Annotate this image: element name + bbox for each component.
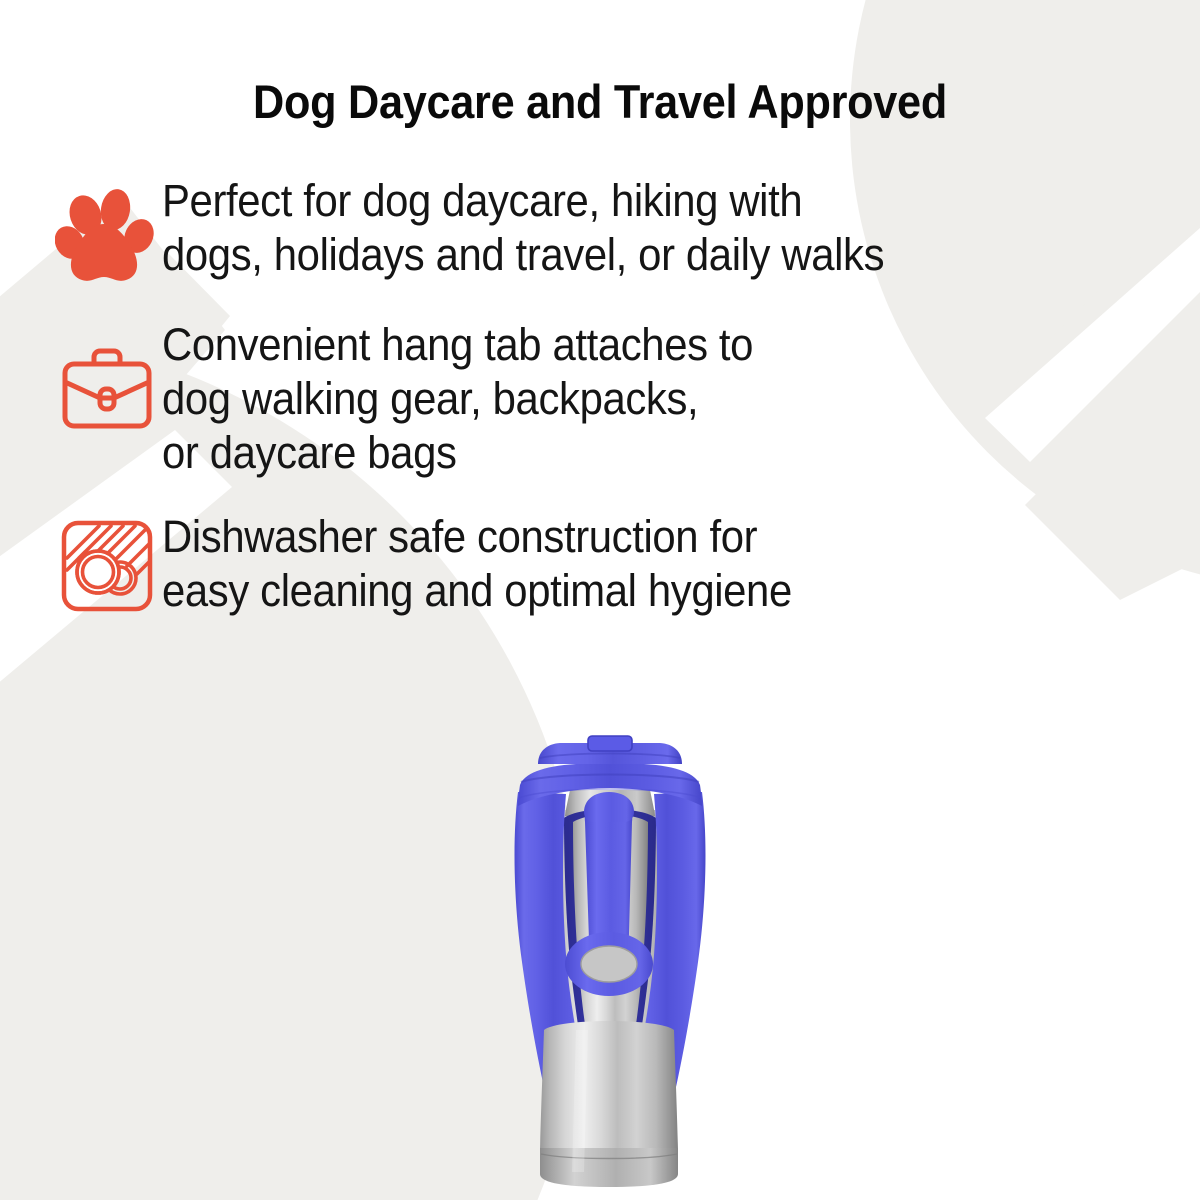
briefcase-icon	[52, 316, 162, 436]
cap-latch-button	[588, 736, 632, 751]
bottle-base-ring	[540, 1148, 678, 1187]
feature-item-dishwasher-text: Dishwasher safe construction for easy cl…	[162, 508, 1092, 618]
feature-item-hang-tab: Convenient hang tab attaches to dog walk…	[52, 316, 1162, 480]
paw-print-icon	[52, 172, 162, 286]
feature-item-hang-tab-text: Convenient hang tab attaches to dog walk…	[162, 316, 1092, 480]
product-image-dog-water-bottle	[480, 730, 740, 1200]
feature-item-dishwasher: Dishwasher safe construction for easy cl…	[52, 508, 1162, 618]
feature-item-daycare-text: Perfect for dog daycare, hiking with dog…	[162, 172, 1092, 282]
dishwasher-safe-icon	[52, 508, 162, 616]
infographic-canvas: Dog Daycare and Travel Approved Perfect …	[0, 0, 1200, 1200]
feature-item-daycare: Perfect for dog daycare, hiking with dog…	[52, 172, 1162, 286]
feature-list: Perfect for dog daycare, hiking with dog…	[52, 172, 1162, 638]
page-title: Dog Daycare and Travel Approved	[48, 74, 1152, 129]
bottle-lower-body	[540, 1021, 678, 1150]
